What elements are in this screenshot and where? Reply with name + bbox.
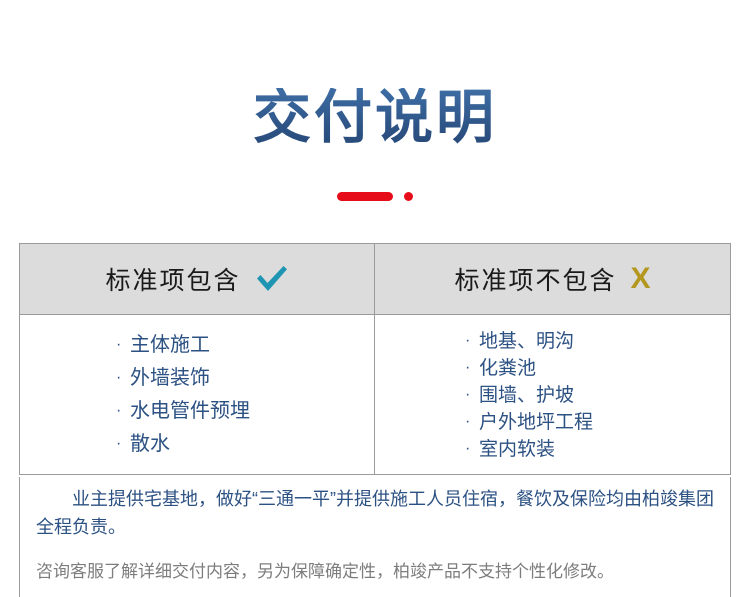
table-body-row: ·主体施工 ·外墙装饰 ·水电管件预埋 ·散水 ·地基、明沟 ·化粪池 ·围墙、… bbox=[20, 315, 730, 474]
spec-table: 标准项包含 标准项不包含 X ·主体施工 ·外墙装饰 ·水电管件预 bbox=[19, 243, 731, 475]
list-item: ·化粪池 bbox=[465, 356, 730, 383]
x-icon-glyph: X bbox=[631, 264, 651, 294]
bullet-icon: · bbox=[116, 398, 130, 424]
bullet-icon: · bbox=[465, 357, 479, 380]
list-item-label: 地基、明沟 bbox=[479, 331, 574, 352]
bullet-icon: · bbox=[465, 438, 479, 461]
list-item: ·主体施工 bbox=[116, 329, 374, 362]
list-item: ·围墙、护坡 bbox=[465, 383, 730, 410]
table-header-row: 标准项包含 标准项不包含 X bbox=[20, 244, 730, 315]
excluded-item-list: ·地基、明沟 ·化粪池 ·围墙、护坡 ·户外地坪工程 ·室内软装 bbox=[375, 329, 730, 464]
delivery-spec-page: 交付说明 标准项包含 标准项不包含 X bbox=[0, 0, 750, 597]
column-title-included: 标准项包含 bbox=[105, 261, 240, 297]
list-item-label: 主体施工 bbox=[130, 334, 210, 356]
title-block: 交付说明 bbox=[0, 88, 750, 149]
table-body-cell-excluded: ·地基、明沟 ·化粪池 ·围墙、护坡 ·户外地坪工程 ·室内软装 bbox=[375, 315, 730, 474]
page-title: 交付说明 bbox=[253, 88, 497, 149]
title-divider bbox=[0, 192, 750, 201]
list-item-label: 水电管件预埋 bbox=[130, 400, 250, 422]
divider-bar-icon bbox=[337, 192, 393, 201]
notes-section: 业主提供宅基地，做好“三通一平”并提供施工人员住宿，餐饮及保险均由柏竣集团全程负… bbox=[19, 477, 731, 597]
list-item-label: 户外地坪工程 bbox=[479, 412, 593, 433]
table-body-cell-included: ·主体施工 ·外墙装饰 ·水电管件预埋 ·散水 bbox=[20, 315, 375, 474]
bullet-icon: · bbox=[465, 384, 479, 407]
bullet-icon: · bbox=[116, 365, 130, 391]
list-item: ·户外地坪工程 bbox=[465, 410, 730, 437]
list-item: ·外墙装饰 bbox=[116, 362, 374, 395]
table-header-cell-included: 标准项包含 bbox=[20, 244, 375, 314]
bullet-icon: · bbox=[465, 330, 479, 353]
list-item-label: 室内软装 bbox=[479, 439, 555, 460]
list-item: ·地基、明沟 bbox=[465, 329, 730, 356]
list-item-label: 散水 bbox=[130, 433, 170, 455]
list-item: ·水电管件预埋 bbox=[116, 395, 374, 428]
note-secondary-text: 咨询客服了解详细交付内容，另为保障确定性，柏竣产品不支持个性化修改。 bbox=[36, 559, 714, 585]
divider-dot-icon bbox=[404, 192, 413, 201]
bullet-icon: · bbox=[116, 332, 130, 358]
check-icon bbox=[255, 265, 289, 293]
column-title-excluded: 标准项不包含 bbox=[454, 261, 616, 297]
note-primary-text: 业主提供宅基地，做好“三通一平”并提供施工人员住宿，餐饮及保险均由柏竣集团全程负… bbox=[36, 486, 714, 542]
list-item: ·室内软装 bbox=[465, 437, 730, 464]
list-item: ·散水 bbox=[116, 428, 374, 461]
table-header-cell-excluded: 标准项不包含 X bbox=[375, 244, 730, 314]
list-item-label: 化粪池 bbox=[479, 358, 536, 379]
list-item-label: 外墙装饰 bbox=[130, 367, 210, 389]
included-item-list: ·主体施工 ·外墙装饰 ·水电管件预埋 ·散水 bbox=[20, 329, 374, 461]
bullet-icon: · bbox=[465, 411, 479, 434]
x-icon: X bbox=[631, 264, 651, 294]
bullet-icon: · bbox=[116, 431, 130, 457]
list-item-label: 围墙、护坡 bbox=[479, 385, 574, 406]
